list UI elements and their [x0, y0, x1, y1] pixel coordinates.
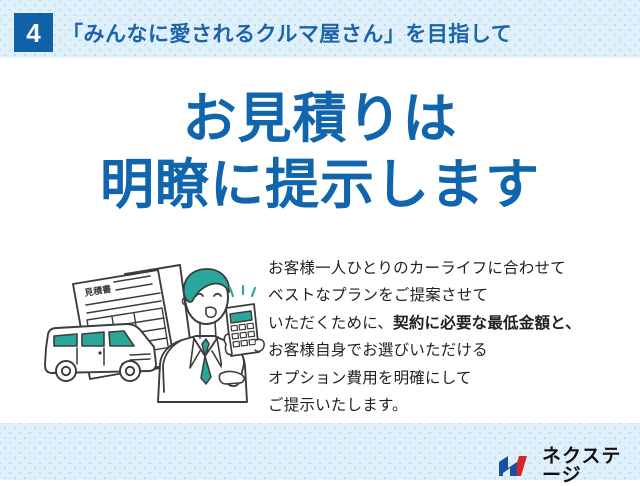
headline: お見積りは 明瞭に提示します	[0, 86, 640, 219]
paragraph-line-1: お客様一人ひとりのカーライフに合わせて	[268, 255, 628, 282]
illustration-svg: 見積書	[30, 252, 270, 420]
brand-name: ネクステージ	[542, 447, 640, 485]
paragraph-line-2: ベストなプランをご提案させて	[268, 282, 628, 309]
brand-logo: ネクステージ	[497, 447, 640, 485]
promo-slide: 4 「みんなに愛されるクルマ屋さん」を目指して お見積りは 明瞭に提示します	[0, 0, 640, 480]
section-number-badge: 4	[14, 13, 53, 52]
headline-line-2: 明瞭に提示します	[0, 152, 640, 218]
description-paragraph: お客様一人ひとりのカーライフに合わせて ベストなプランをご提案させて いただくた…	[268, 255, 628, 420]
header-title: 「みんなに愛されるクルマ屋さん」を目指して	[62, 18, 512, 48]
paragraph-line-3-normal: いただくために、	[268, 315, 393, 332]
paragraph-line-3: いただくために、契約に必要な最低金額と、	[268, 310, 628, 337]
nexstage-n-logo-icon	[497, 454, 535, 478]
paragraph-line-5: オプション費用を明確にして	[268, 365, 628, 392]
illustration-estimate-scene: 見積書	[30, 252, 270, 420]
headline-line-1: お見積りは	[183, 89, 458, 149]
paragraph-line-6: ご提示いたします。	[268, 392, 628, 419]
paragraph-line-4: お客様自身でお選びいただける	[268, 337, 628, 364]
paragraph-line-3-emphasis: 契約に必要な最低金額と、	[393, 315, 581, 332]
